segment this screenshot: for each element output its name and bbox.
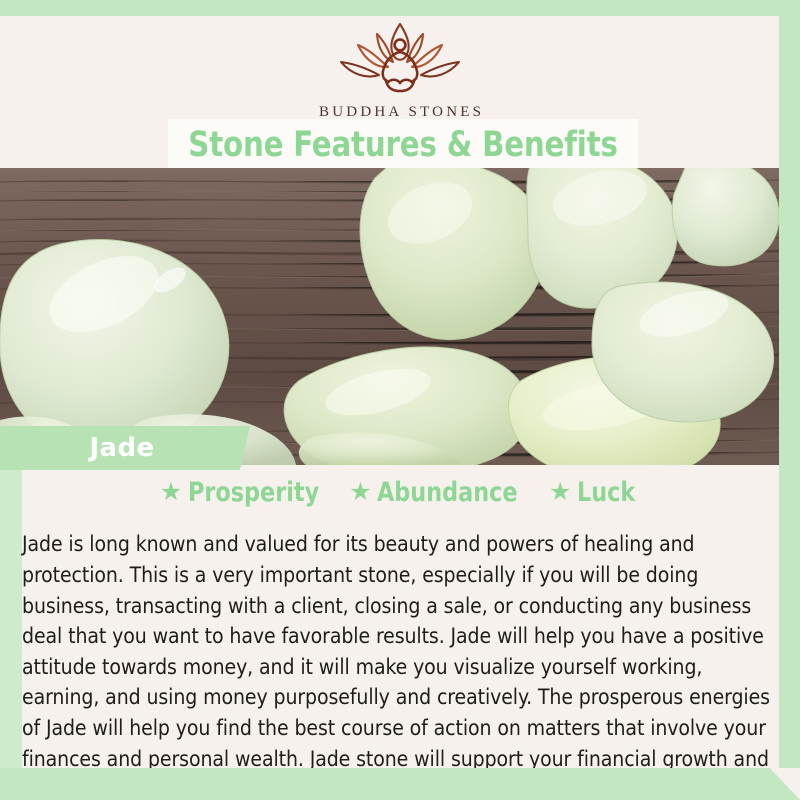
benefit-label: Abundance xyxy=(377,477,518,508)
star-icon: ★ xyxy=(549,482,570,503)
benefit-item: ★ Prosperity xyxy=(160,477,331,508)
brand-logo: BUDDHA STONES xyxy=(0,18,800,121)
jade-stones-photo xyxy=(0,168,779,465)
stone-info-poster: BUDDHA STONES Stone Features & Benefits xyxy=(0,0,800,800)
benefit-item: ★ Luck xyxy=(549,477,640,508)
decorative-green-top-band xyxy=(0,0,800,17)
stone-name-label: Jade xyxy=(0,426,244,470)
lotus-meditation-icon xyxy=(0,18,800,101)
star-icon: ★ xyxy=(160,482,181,503)
benefits-row: ★ Prosperity ★ Abundance ★ Luck xyxy=(22,477,778,508)
page-title: Stone Features & Benefits xyxy=(184,120,621,170)
decorative-green-bottom-band xyxy=(0,768,800,800)
benefit-label: Luck xyxy=(577,477,635,508)
benefit-item: ★ Abundance xyxy=(349,477,530,508)
star-icon: ★ xyxy=(349,482,370,503)
stone-description: Jade is long known and valued for its be… xyxy=(22,530,773,800)
benefit-label: Prosperity xyxy=(188,477,319,508)
